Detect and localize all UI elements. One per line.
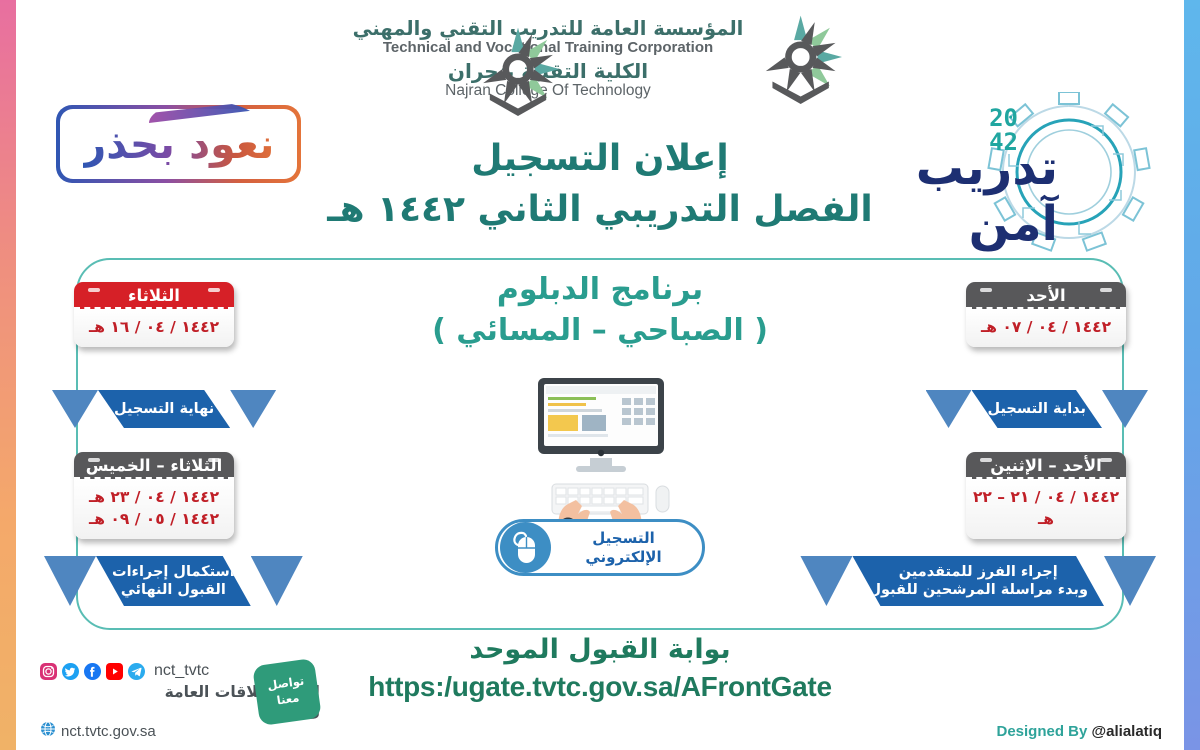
credit-prefix: Designed By — [996, 723, 1087, 740]
date-card-sorting: الأحد – الإثنين ١٤٤٢ / ٠٤ / ٢١ – ٢٢ هـ — [966, 452, 1126, 539]
page-title: إعلان التسجيل الفصل التدريبي الثاني ١٤٤٢… — [16, 138, 1184, 230]
program-subtitle: برنامج الدبلوم ( الصباحي – المسائي ) — [16, 272, 1184, 348]
banner-label: بداية التسجيل — [972, 390, 1102, 428]
banner-label-line-1: استكمال إجراءات — [112, 563, 235, 581]
banner-wing-right-icon — [52, 390, 98, 428]
date-card-day: الثلاثاء – الخميس — [74, 452, 234, 479]
pill-label-line-2: الإلكتروني — [551, 548, 696, 566]
website-row[interactable]: nct.tvtc.gov.sa — [34, 721, 324, 741]
website-label: nct.tvtc.gov.sa — [61, 723, 156, 740]
subtitle-line-2: ( الصباحي – المسائي ) — [16, 313, 1184, 348]
contact-us-badge[interactable]: تواصل معنا — [252, 658, 322, 726]
date-card-value: ١٤٤٢ / ٠٤ / ٢٣ هـ — [80, 486, 228, 508]
designer-credit: Designed By @alialatiq — [996, 723, 1162, 740]
banner-registration-end: نهاية التسجيل — [52, 390, 276, 428]
social-handle: nct_tvtc — [154, 662, 209, 680]
electronic-registration-badge[interactable]: التسجيل الإلكتروني — [495, 519, 705, 576]
banner-label: نهاية التسجيل — [98, 390, 230, 428]
twitter-icon[interactable] — [62, 663, 79, 680]
globe-icon — [40, 721, 56, 741]
subtitle-line-1: برنامج الدبلوم — [16, 272, 1184, 307]
banner-wing-right-icon — [926, 390, 972, 428]
banner-wing-right-icon — [44, 556, 96, 606]
tvtc-star-icon — [753, 10, 847, 108]
banner-final-acceptance: استكمال إجراءات القبول النهائي — [44, 556, 303, 606]
computer-mouse-icon — [500, 522, 551, 573]
tvtc-star-icon-secondary — [471, 22, 565, 120]
social-media-block: nct_tvtc إدارة العلاقات العامة والإعلام … — [34, 662, 324, 741]
banner-wing-left-icon — [1104, 556, 1156, 606]
gate-title: بوابة القبول الموحد — [16, 634, 1184, 665]
poster-canvas: المؤسسة العامة للتدريب التقني والمهني Te… — [16, 0, 1184, 750]
pill-label-block: التسجيل الإلكتروني — [551, 529, 702, 566]
banner-sorting: إجراء الفرز للمتقدمين وبدء مراسلة المرشح… — [800, 556, 1156, 606]
year-top: 20 — [989, 106, 1018, 130]
banner-wing-right-icon — [800, 556, 852, 606]
youtube-icon[interactable] — [106, 663, 123, 680]
title-line-1: إعلان التسجيل — [16, 138, 1184, 179]
banner-wing-left-icon — [1102, 390, 1148, 428]
banner-label-line-2: وبدء مراسلة المرشحين للقبول — [868, 581, 1088, 599]
facebook-icon[interactable] — [84, 663, 101, 680]
banner-registration-start: بداية التسجيل — [926, 390, 1148, 428]
date-card-day: الأحد – الإثنين — [966, 452, 1126, 479]
banner-label-line-2: القبول النهائي — [112, 581, 235, 599]
date-card-value: ١٤٤٢ / ٠٤ / ٢١ – ٢٢ هـ — [972, 486, 1120, 530]
poster-root: المؤسسة العامة للتدريب التقني والمهني Te… — [0, 0, 1200, 750]
instagram-icon[interactable] — [40, 663, 57, 680]
banner-label-block: استكمال إجراءات القبول النهائي — [96, 556, 251, 606]
banner-wing-left-icon — [230, 390, 276, 428]
banner-wing-left-icon — [251, 556, 303, 606]
date-card-value-2: ١٤٤٢ / ٠٥ / ٠٩ هـ — [80, 508, 228, 530]
pill-label-line-1: التسجيل — [551, 529, 696, 547]
date-card-final-acceptance: الثلاثاء – الخميس ١٤٤٢ / ٠٤ / ٢٣ هـ ١٤٤٢… — [74, 452, 234, 539]
contact-line-2: معنا — [276, 690, 301, 709]
banner-label-block: إجراء الفرز للمتقدمين وبدء مراسلة المرشح… — [852, 556, 1104, 606]
telegram-icon[interactable] — [128, 663, 145, 680]
title-line-2: الفصل التدريبي الثاني ١٤٤٢ هـ — [16, 189, 1184, 230]
credit-handle: @alialatiq — [1092, 723, 1162, 740]
banner-label-line-1: إجراء الفرز للمتقدمين — [868, 563, 1088, 581]
